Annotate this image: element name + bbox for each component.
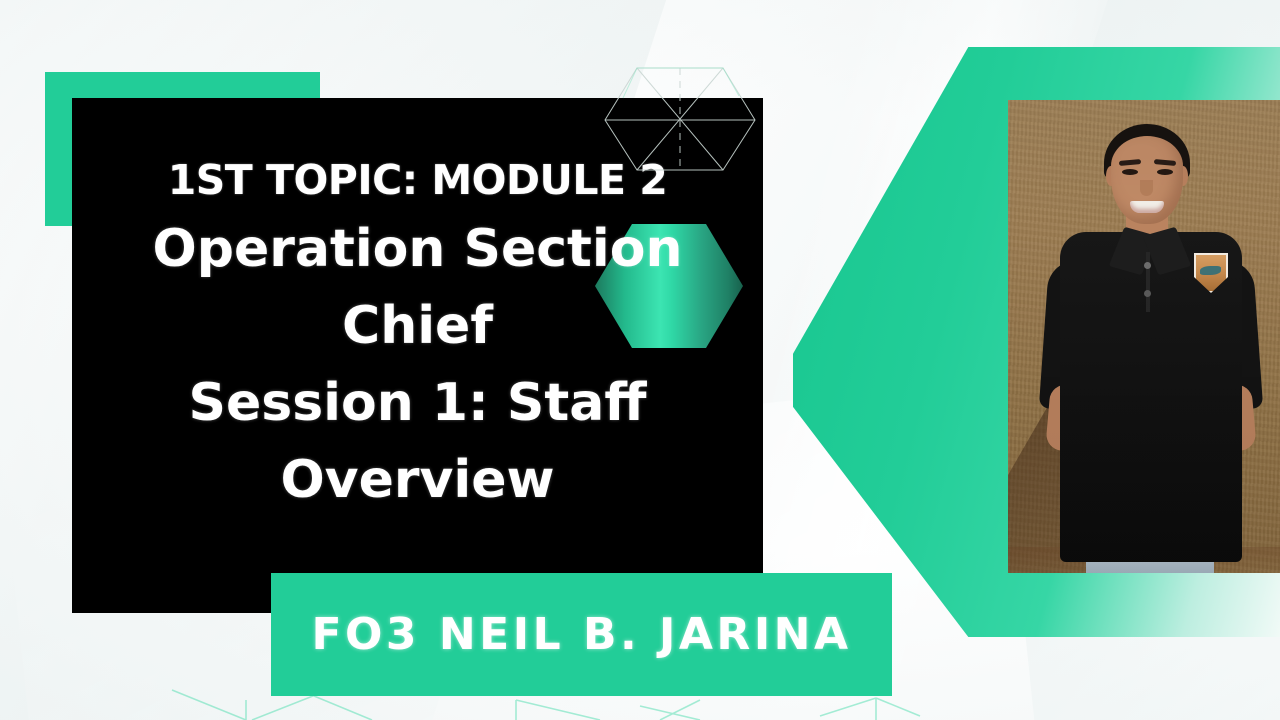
subtitle-line-2: Chief [72, 288, 763, 365]
title-card: 1ST TOPIC: MODULE 2 Operation Section Ch… [72, 98, 763, 613]
page-title: 1ST TOPIC: MODULE 2 [72, 160, 763, 201]
slide-canvas: 1ST TOPIC: MODULE 2 Operation Section Ch… [0, 0, 1280, 720]
subtitle-line-3: Session 1: Staff [72, 365, 763, 442]
title-text-block: 1ST TOPIC: MODULE 2 Operation Section Ch… [72, 98, 763, 519]
subtitle-line-4: Overview [72, 442, 763, 519]
photo-shading-overlay [1008, 100, 1280, 573]
subtitle-line-1: Operation Section [72, 211, 763, 288]
presenter-photo [1008, 100, 1280, 573]
presenter-name: FO3 NEIL B. JARINA [311, 609, 851, 660]
presenter-name-banner: FO3 NEIL B. JARINA [271, 573, 892, 696]
subtitle-block: Operation Section Chief Session 1: Staff… [72, 211, 763, 519]
